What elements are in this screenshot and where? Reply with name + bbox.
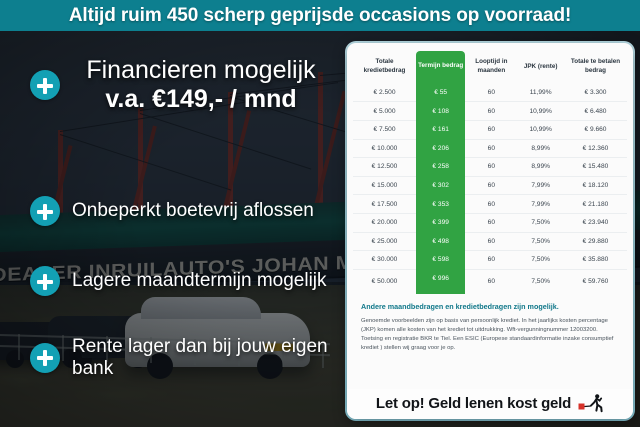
plus-icon <box>30 196 60 226</box>
table-cell: € 30.000 <box>353 251 416 270</box>
credit-table-wrapper: Totale kredietbedrag Termijn bedrag Loop… <box>347 43 633 298</box>
table-cell: € 598 <box>416 251 465 270</box>
column-header-totale-kredietbedrag: Totale kredietbedrag <box>353 51 416 83</box>
headline-text: Altijd ruim 450 scherp geprijsde occasio… <box>69 5 571 27</box>
table-cell: € 108 <box>416 102 465 121</box>
column-header-termijn-bedrag: Termijn bedrag <box>416 51 465 83</box>
table-row: € 15.000€ 302607,99%€ 18.120 <box>353 176 627 195</box>
table-cell: € 258 <box>416 158 465 177</box>
table-header-row: Totale kredietbedrag Termijn bedrag Loop… <box>353 51 627 83</box>
table-cell: € 7.500 <box>353 120 416 139</box>
hero-line-1: Financieren mogelijk <box>86 57 315 85</box>
feature-label: Onbeperkt boetevrij aflossen <box>72 200 314 222</box>
disclaimer-title: Andere maandbedragen en kredietbedragen … <box>361 302 619 313</box>
table-cell: € 15.480 <box>564 158 627 177</box>
table-cell: 7,99% <box>517 176 564 195</box>
table-cell: 60 <box>465 120 517 139</box>
table-cell: € 2.500 <box>353 83 416 102</box>
feature-item-lagere-maandtermijn: Lagere maandtermijn mogelijk <box>30 266 327 296</box>
table-cell: 7,50% <box>517 232 564 251</box>
table-cell: 7,50% <box>517 269 564 294</box>
table-cell: € 12.500 <box>353 158 416 177</box>
table-cell: € 18.120 <box>564 176 627 195</box>
table-row: € 50.000€ 996607,50%€ 59.760 <box>353 269 627 294</box>
table-row: € 7.500€ 1616010,99%€ 9.660 <box>353 120 627 139</box>
table-cell: € 5.000 <box>353 102 416 121</box>
hero-line-2: v.a. €149,- / mnd <box>105 85 296 114</box>
table-cell: 11,99% <box>517 83 564 102</box>
table-cell: € 498 <box>416 232 465 251</box>
table-cell: € 6.480 <box>564 102 627 121</box>
table-cell: € 21.180 <box>564 195 627 214</box>
table-cell: € 3.300 <box>564 83 627 102</box>
table-row: € 10.000€ 206608,99%€ 12.360 <box>353 139 627 158</box>
table-cell: € 302 <box>416 176 465 195</box>
table-cell: € 29.880 <box>564 232 627 251</box>
table-cell: 60 <box>465 102 517 121</box>
column-header-jkp: JPK (rente) <box>517 51 564 83</box>
running-man-warning-icon <box>578 393 604 413</box>
table-cell: 10,99% <box>517 102 564 121</box>
legal-warning-text: Let op! Geld lenen kost geld <box>376 395 571 412</box>
table-cell: 60 <box>465 83 517 102</box>
table-cell: 7,99% <box>517 195 564 214</box>
table-cell: € 35.880 <box>564 251 627 270</box>
table-cell: € 55 <box>416 83 465 102</box>
feature-item-lagere-rente: Rente lager dan bij jouw eigen bank <box>30 336 350 380</box>
table-cell: 60 <box>465 213 517 232</box>
table-row: € 12.500€ 258608,99%€ 15.480 <box>353 158 627 177</box>
table-cell: 60 <box>465 251 517 270</box>
table-cell: 60 <box>465 269 517 294</box>
plus-icon <box>30 343 60 373</box>
table-cell: € 12.360 <box>564 139 627 158</box>
table-cell: € 161 <box>416 120 465 139</box>
table-cell: 60 <box>465 139 517 158</box>
table-row: € 2.500€ 556011,99%€ 3.300 <box>353 83 627 102</box>
disclaimer-note: Andere maandbedragen en kredietbedragen … <box>347 298 633 353</box>
column-header-looptijd: Looptijd in maanden <box>465 51 517 83</box>
table-cell: 60 <box>465 232 517 251</box>
table-cell: 60 <box>465 195 517 214</box>
credit-table-body: € 2.500€ 556011,99%€ 3.300€ 5.000€ 10860… <box>353 83 627 294</box>
table-cell: 7,50% <box>517 213 564 232</box>
legal-warning-bar: Let op! Geld lenen kost geld <box>347 389 633 419</box>
headline-banner: Altijd ruim 450 scherp geprijsde occasio… <box>0 0 640 31</box>
feature-list: Financieren mogelijk v.a. €149,- / mnd O… <box>0 31 350 427</box>
table-row: € 17.500€ 353607,99%€ 21.180 <box>353 195 627 214</box>
plus-icon <box>30 70 60 100</box>
table-cell: € 353 <box>416 195 465 214</box>
table-cell: 60 <box>465 176 517 195</box>
table-row: € 25.000€ 498607,50%€ 29.880 <box>353 232 627 251</box>
table-cell: € 399 <box>416 213 465 232</box>
table-cell: € 17.500 <box>353 195 416 214</box>
table-cell: € 9.660 <box>564 120 627 139</box>
table-cell: 7,50% <box>517 251 564 270</box>
feature-item-onbeperkt-aflossen: Onbeperkt boetevrij aflossen <box>30 196 314 226</box>
table-cell: € 59.760 <box>564 269 627 294</box>
feature-label: Rente lager dan bij jouw eigen bank <box>72 336 350 380</box>
table-cell: € 206 <box>416 139 465 158</box>
table-cell: € 20.000 <box>353 213 416 232</box>
table-cell: € 50.000 <box>353 269 416 294</box>
table-row: € 30.000€ 598607,50%€ 35.880 <box>353 251 627 270</box>
credit-table: Totale kredietbedrag Termijn bedrag Loop… <box>353 51 627 294</box>
disclaimer-body: Genoemde voorbeelden zijn op basis van p… <box>361 317 619 354</box>
table-row: € 5.000€ 1086010,99%€ 6.480 <box>353 102 627 121</box>
column-header-totale-te-betalen: Totale te betalen bedrag <box>564 51 627 83</box>
table-cell: 8,99% <box>517 139 564 158</box>
table-cell: 8,99% <box>517 158 564 177</box>
table-row: € 20.000€ 399607,50%€ 23.940 <box>353 213 627 232</box>
advertisement-banner: DEALER INRUILAUTO'S JOHAN MEURE ALTIJD 4… <box>0 0 640 427</box>
plus-icon <box>30 266 60 296</box>
table-cell: 60 <box>465 158 517 177</box>
table-cell: 10,99% <box>517 120 564 139</box>
feature-label: Lagere maandtermijn mogelijk <box>72 270 327 292</box>
table-cell: € 996 <box>416 269 465 294</box>
table-cell: € 25.000 <box>353 232 416 251</box>
table-cell: € 23.940 <box>564 213 627 232</box>
table-cell: € 15.000 <box>353 176 416 195</box>
hero-finance-claim: Financieren mogelijk v.a. €149,- / mnd <box>30 57 340 113</box>
table-cell: € 10.000 <box>353 139 416 158</box>
credit-table-card: Totale kredietbedrag Termijn bedrag Loop… <box>347 43 633 419</box>
